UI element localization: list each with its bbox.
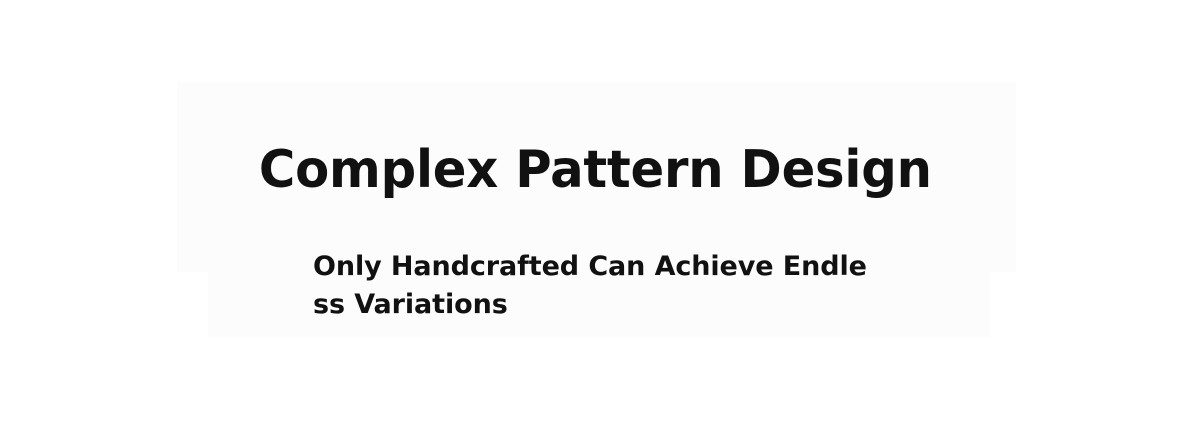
title-block: Complex Pattern Design <box>0 141 1190 199</box>
subtitle-block: Only Handcrafted Can Achieve Endless Var… <box>313 248 879 324</box>
slide-title: Complex Pattern Design <box>259 141 932 199</box>
slide-canvas: Complex Pattern Design Only Handcrafted … <box>0 0 1200 439</box>
slide-subtitle: Only Handcrafted Can Achieve Endless Var… <box>313 248 879 324</box>
